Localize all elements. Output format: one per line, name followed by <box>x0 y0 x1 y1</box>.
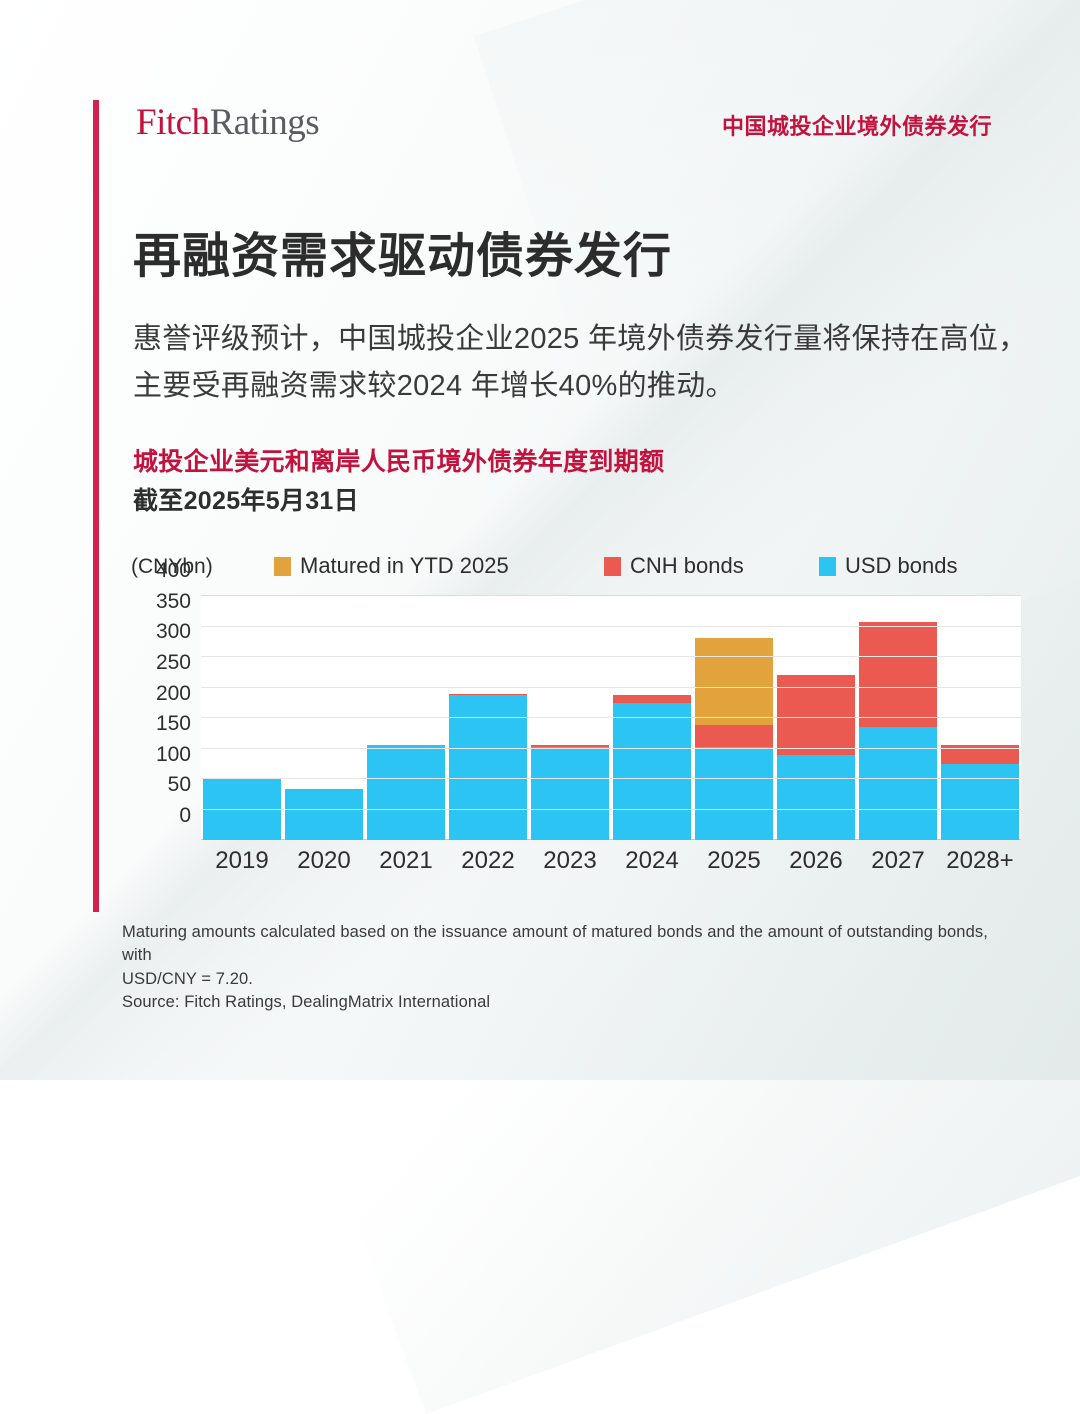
standfirst-text: 惠誉评级预计，中国城投企业2025 年境外债券发行量将保持在高位，主要受再融资需… <box>133 316 1033 410</box>
y-axis-tick: 100 <box>156 743 191 767</box>
gridline <box>201 778 1021 779</box>
footnote-line-3: Source: Fitch Ratings, DealingMatrix Int… <box>122 991 1002 1014</box>
bar-segment-usd-bonds[interactable] <box>367 745 444 840</box>
bar-segment-cnh-bonds[interactable] <box>859 622 936 727</box>
bar-segment-cnh-bonds[interactable] <box>613 695 690 704</box>
chart-legend: (CNYbn) Matured in YTD 2025 CNH bonds US… <box>131 553 1031 581</box>
chart-title: 城投企业美元和离岸人民币境外债券年度到期额 <box>133 442 664 478</box>
maturity-bar-chart: 400350300250200150100500 201920202021202… <box>131 595 1021 855</box>
y-axis-tick: 50 <box>168 773 191 797</box>
bar-column[interactable] <box>531 596 608 840</box>
legend-item-usd-bonds: USD bonds <box>819 553 958 579</box>
y-axis-tick: 200 <box>156 682 191 706</box>
bar-group <box>201 596 1021 840</box>
footnote-line-1: Maturing amounts calculated based on the… <box>122 921 1002 968</box>
chart-subtitle: 截至2025年5月31日 <box>133 481 359 517</box>
gridline <box>201 656 1021 657</box>
y-axis-tick: 350 <box>156 590 191 614</box>
header-kicker: 中国城投企业境外债券发行 <box>722 109 992 141</box>
bar-segment-cnh-bonds[interactable] <box>695 725 772 747</box>
header: FitchRatings 中国城投企业境外债券发行 <box>136 101 1016 155</box>
gridline <box>201 717 1021 718</box>
legend-label-matured-ytd-2025: Matured in YTD 2025 <box>300 553 509 579</box>
bar-column[interactable] <box>859 596 936 840</box>
x-axis-label: 2027 <box>859 847 936 875</box>
legend-label-cnh-bonds: CNH bonds <box>630 553 744 579</box>
bar-column[interactable] <box>367 596 444 840</box>
bar-segment-usd-bonds[interactable] <box>941 764 1018 840</box>
legend-swatch-orange <box>274 557 291 576</box>
left-accent-rail <box>93 100 99 912</box>
footnote-line-2: USD/CNY = 7.20. <box>122 968 1002 991</box>
y-axis-tick: 150 <box>156 712 191 736</box>
bar-segment-usd-bonds[interactable] <box>613 703 690 840</box>
x-axis-label: 2020 <box>285 847 362 875</box>
page-title: 再融资需求驱动债券发行 <box>133 228 1033 286</box>
bar-segment-usd-bonds[interactable] <box>859 727 936 840</box>
infographic-canvas: FitchRatings 中国城投企业境外债券发行 再融资需求驱动债券发行 惠誉… <box>0 0 1080 1080</box>
bar-column[interactable] <box>449 596 526 840</box>
y-axis-tick: 400 <box>156 559 191 583</box>
y-axis-tick: 300 <box>156 620 191 644</box>
bar-column[interactable] <box>695 596 772 840</box>
fitch-ratings-logo: FitchRatings <box>136 101 319 144</box>
x-axis-label: 2023 <box>531 847 608 875</box>
x-axis-label: 2024 <box>613 847 690 875</box>
x-axis-label: 2022 <box>449 847 526 875</box>
x-axis-label: 2028+ <box>941 847 1018 875</box>
y-axis-tick: 0 <box>179 804 191 828</box>
gridline <box>201 626 1021 627</box>
bar-column[interactable] <box>777 596 854 840</box>
y-axis: 400350300250200150100500 <box>131 595 191 840</box>
x-axis-label: 2025 <box>695 847 772 875</box>
x-axis: 2019202020212022202320242025202620272028… <box>201 847 1021 875</box>
bar-column[interactable] <box>613 596 690 840</box>
y-axis-tick: 250 <box>156 651 191 675</box>
footnotes: Maturing amounts calculated based on the… <box>122 921 1002 1015</box>
logo-ratings-text: Ratings <box>210 102 320 143</box>
legend-swatch-red <box>604 557 621 576</box>
bar-segment-usd-bonds[interactable] <box>285 789 362 840</box>
bar-column[interactable] <box>203 596 280 840</box>
legend-item-matured-ytd-2025: Matured in YTD 2025 <box>274 553 509 579</box>
bar-segment-usd-bonds[interactable] <box>777 755 854 840</box>
gridline <box>201 687 1021 688</box>
bar-column[interactable] <box>941 596 1018 840</box>
x-axis-label: 2019 <box>203 847 280 875</box>
x-axis-label: 2026 <box>777 847 854 875</box>
legend-item-cnh-bonds: CNH bonds <box>604 553 744 579</box>
bar-segment-usd-bonds[interactable] <box>695 747 772 840</box>
plot-area <box>201 595 1021 840</box>
bar-segment-usd-bonds[interactable] <box>531 747 608 840</box>
legend-label-usd-bonds: USD bonds <box>845 553 958 579</box>
x-axis-label: 2021 <box>367 847 444 875</box>
gridline <box>201 809 1021 810</box>
bar-segment-matured-in-ytd-2025[interactable] <box>695 638 772 726</box>
logo-fitch-text: Fitch <box>136 102 210 143</box>
legend-swatch-blue <box>819 557 836 576</box>
bar-column[interactable] <box>285 596 362 840</box>
gridline <box>201 748 1021 749</box>
